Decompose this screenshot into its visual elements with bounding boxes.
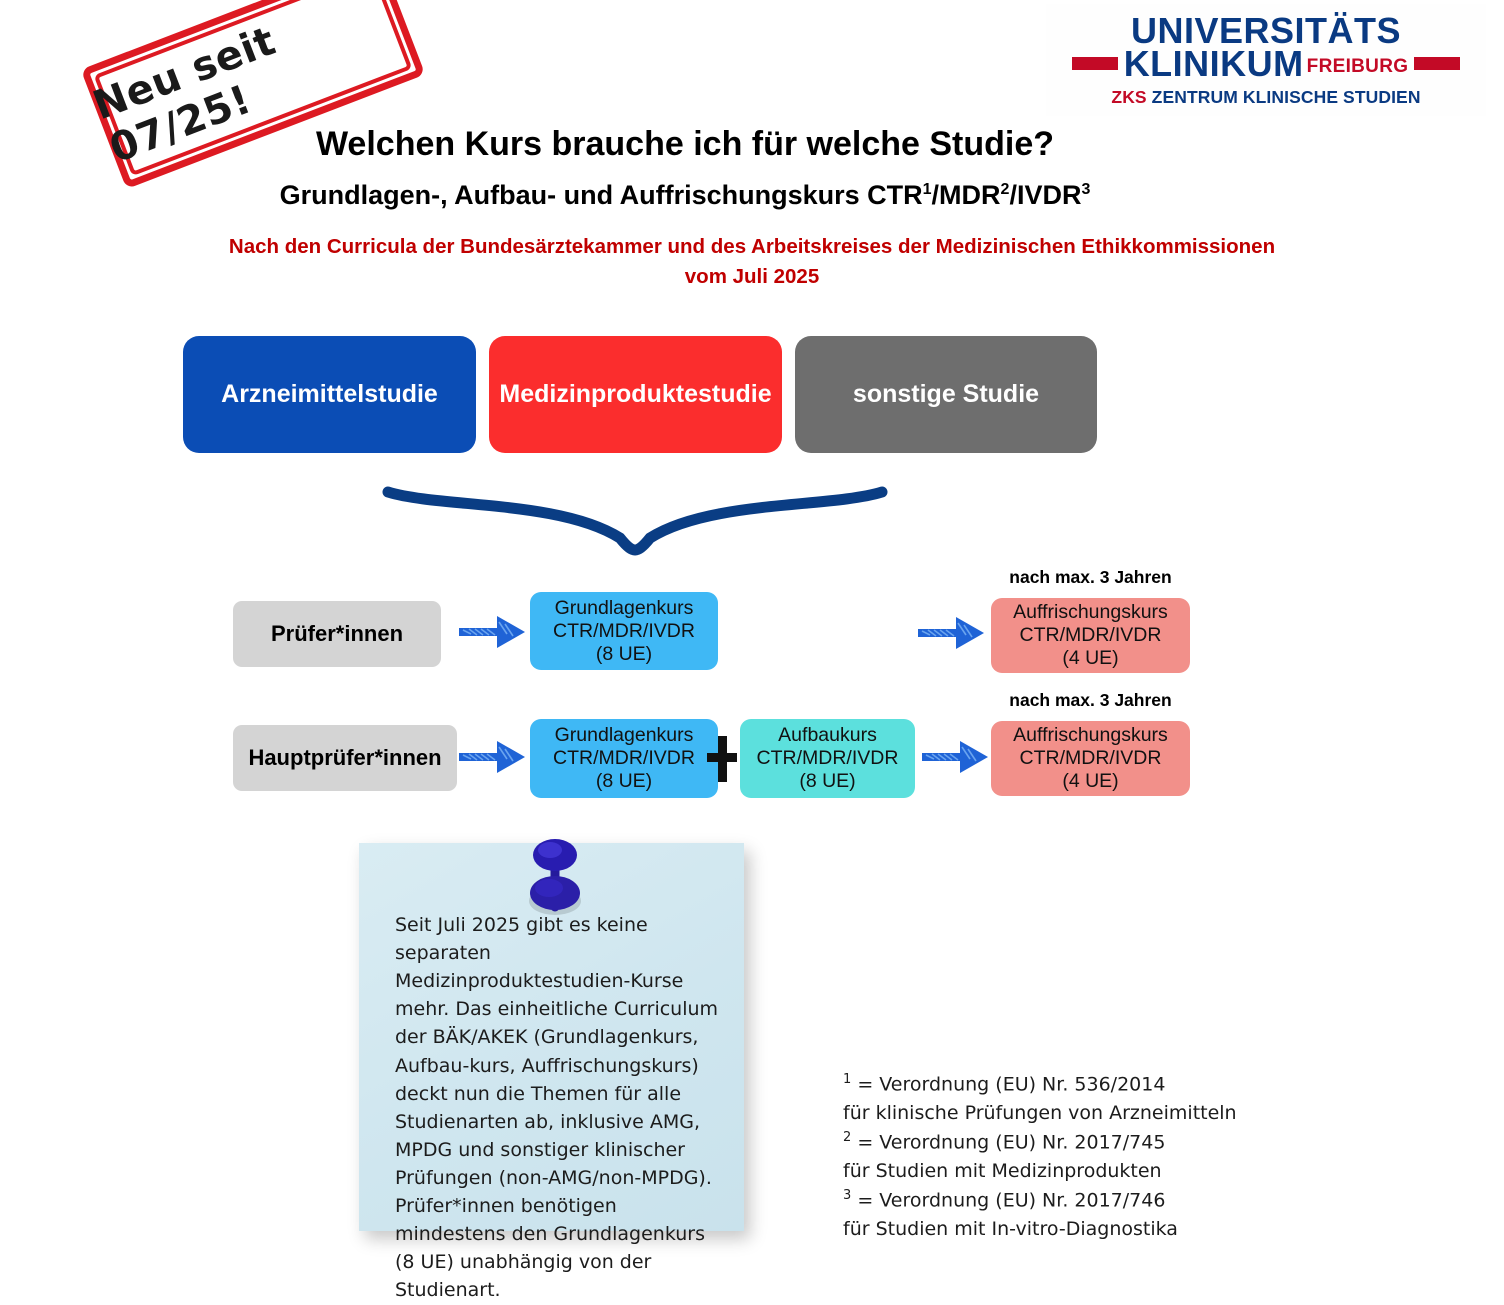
page-subtitle: Grundlagen-, Aufbau- und Auffrischungsku… xyxy=(0,180,1370,211)
footnotes-block: 1 = Verordnung (EU) Nr. 536/2014 für kli… xyxy=(843,1070,1293,1244)
course-units: (4 UE) xyxy=(1062,647,1118,670)
footnote-2-line-1: 2 = Verordnung (EU) Nr. 2017/745 xyxy=(843,1128,1293,1157)
course-title: Grundlagenkurs xyxy=(555,724,694,747)
course-title: Auffrischungskurs xyxy=(1013,601,1168,624)
sticky-note-text: Seit Juli 2025 gibt es keine separaten M… xyxy=(395,911,720,1305)
subtitle-part-2: /MDR xyxy=(932,180,1001,210)
course-aufbaukurs-row2[interactable]: Aufbaukurs CTR/MDR/IVDR (8 UE) xyxy=(740,719,915,798)
logo-bar-right-icon xyxy=(1414,57,1460,70)
course-units: (8 UE) xyxy=(596,643,652,666)
merge-brace-icon xyxy=(380,478,890,558)
curricula-note-line-2: vom Juli 2025 xyxy=(0,262,1504,292)
logo-zks-full: ZENTRUM KLINISCHE STUDIEN xyxy=(1147,87,1421,107)
refresher-interval-label-row1: nach max. 3 Jahren xyxy=(991,567,1190,588)
course-regs: CTR/MDR/IVDR xyxy=(553,747,695,770)
footnote-1-line-2: für klinische Prüfungen von Arzneimittel… xyxy=(843,1099,1293,1128)
logo-freiburg: FREIBURG xyxy=(1307,56,1409,78)
arrow-right-icon xyxy=(916,609,988,657)
course-regs: CTR/MDR/IVDR xyxy=(757,747,899,770)
course-title: Auffrischungskurs xyxy=(1013,724,1168,747)
course-grundlagenkurs-row2[interactable]: Grundlagenkurs CTR/MDR/IVDR (8 UE) xyxy=(530,719,718,798)
footnote-3-line-2: für Studien mit In-vitro-Diagnostika xyxy=(843,1215,1293,1244)
arrow-right-icon xyxy=(457,733,529,781)
logo-line-klinikum-row: KLINIKUM FREIBURG xyxy=(1072,46,1461,82)
footnote-2-text: = Verordnung (EU) Nr. 2017/745 xyxy=(851,1131,1165,1153)
infographic-canvas: UNIVERSITÄTS KLINIKUM FREIBURG ZKS ZENTR… xyxy=(0,0,1504,1269)
course-units: (8 UE) xyxy=(799,770,855,793)
course-regs: CTR/MDR/IVDR xyxy=(1020,624,1162,647)
study-type-medizinproduktestudie[interactable]: Medizinproduktestudie xyxy=(489,336,782,453)
course-grundlagenkurs-row1[interactable]: Grundlagenkurs CTR/MDR/IVDR (8 UE) xyxy=(530,592,718,670)
footnote-2-line-2: für Studien mit Medizinprodukten xyxy=(843,1157,1293,1186)
subtitle-sup-3: 3 xyxy=(1081,181,1090,198)
course-title: Grundlagenkurs xyxy=(555,597,694,620)
university-hospital-logo: UNIVERSITÄTS KLINIKUM FREIBURG ZKS ZENTR… xyxy=(1046,4,1486,116)
course-regs: CTR/MDR/IVDR xyxy=(553,620,695,643)
arrow-right-icon xyxy=(920,733,992,781)
role-pruefer-innen[interactable]: Prüfer*innen xyxy=(233,601,441,667)
course-units: (4 UE) xyxy=(1062,770,1118,793)
curricula-note: Nach den Curricula der Bundesärztekammer… xyxy=(0,232,1504,291)
course-units: (8 UE) xyxy=(596,770,652,793)
plus-combiner-icon xyxy=(707,736,737,782)
arrow-right-icon xyxy=(457,608,529,656)
role-hauptpruefer-innen[interactable]: Hauptprüfer*innen xyxy=(233,725,457,791)
study-type-arzneimittelstudie[interactable]: Arzneimittelstudie xyxy=(183,336,476,453)
course-regs: CTR/MDR/IVDR xyxy=(1020,747,1162,770)
logo-bar-left-icon xyxy=(1072,57,1118,70)
pushpin-icon xyxy=(519,833,591,925)
footnote-3-line-1: 3 = Verordnung (EU) Nr. 2017/746 xyxy=(843,1186,1293,1215)
subtitle-part-3: /IVDR xyxy=(1009,180,1081,210)
logo-line-klinikum: KLINIKUM xyxy=(1124,46,1304,82)
curricula-note-line-1: Nach den Curricula der Bundesärztekammer… xyxy=(0,232,1504,262)
logo-zks-abbrev: ZKS xyxy=(1111,87,1146,107)
logo-line-zks: ZKS ZENTRUM KLINISCHE STUDIEN xyxy=(1111,87,1420,108)
footnote-1-line-1: 1 = Verordnung (EU) Nr. 536/2014 xyxy=(843,1070,1293,1099)
study-type-sonstige-studie[interactable]: sonstige Studie xyxy=(795,336,1097,453)
page-title: Welchen Kurs brauche ich für welche Stud… xyxy=(0,125,1370,164)
course-auffrischungskurs-row1[interactable]: Auffrischungskurs CTR/MDR/IVDR (4 UE) xyxy=(991,598,1190,673)
footnote-1-text: = Verordnung (EU) Nr. 536/2014 xyxy=(851,1073,1165,1095)
course-auffrischungskurs-row2[interactable]: Auffrischungskurs CTR/MDR/IVDR (4 UE) xyxy=(991,721,1190,796)
course-title: Aufbaukurs xyxy=(778,724,877,747)
footnote-3-text: = Verordnung (EU) Nr. 2017/746 xyxy=(851,1189,1165,1211)
subtitle-part-1: Grundlagen-, Aufbau- und Auffrischungsku… xyxy=(280,180,923,210)
subtitle-sup-1: 1 xyxy=(923,181,932,198)
refresher-interval-label-row2: nach max. 3 Jahren xyxy=(991,690,1190,711)
